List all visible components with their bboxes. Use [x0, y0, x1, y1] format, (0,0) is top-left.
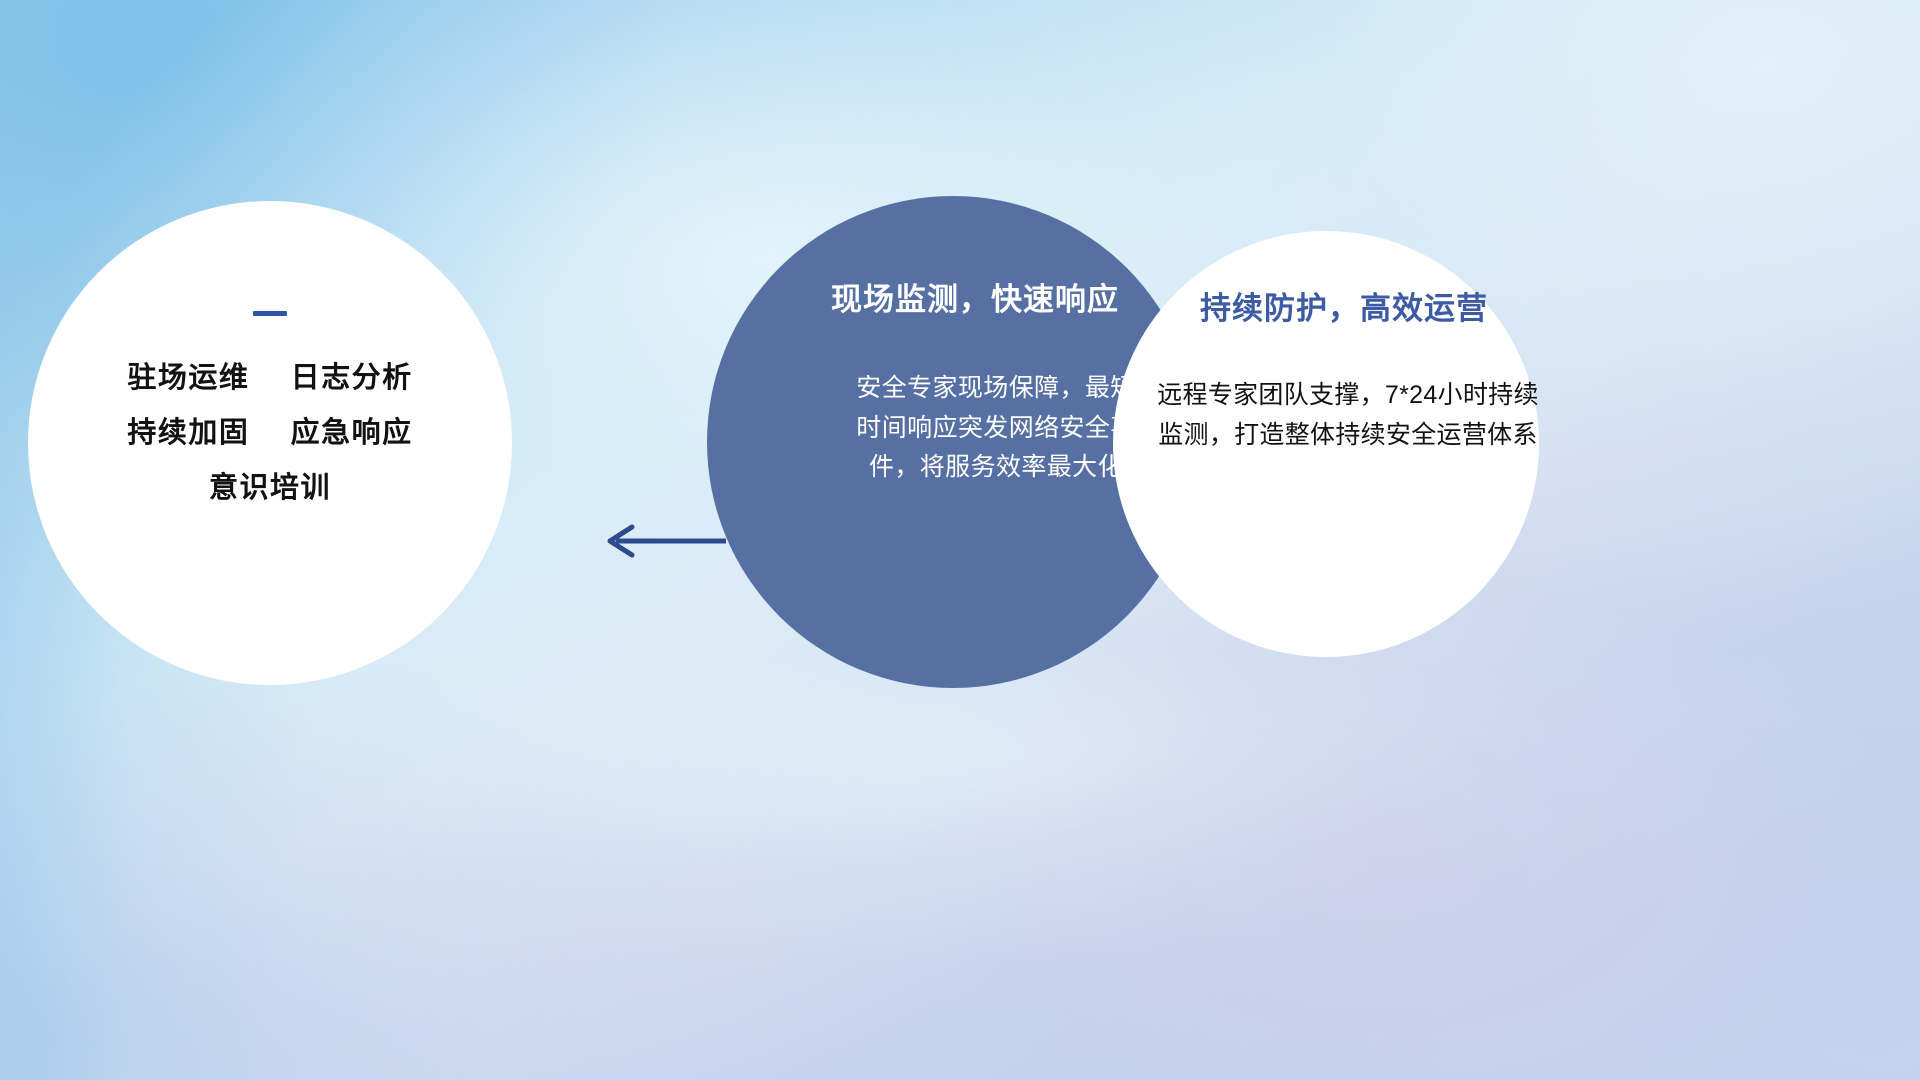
slide-canvas: 驻场运维 日志分析 持续加固 应急响应 意识培训 现场监测，快速响应 安全专家现…	[0, 0, 1920, 1080]
capabilities-circle: 驻场运维 日志分析 持续加固 应急响应 意识培训	[28, 201, 512, 685]
list-item: 驻场运维 日志分析	[127, 364, 412, 393]
continuous-protection-body: 远程专家团队支撑，7*24小时持续监测，打造整体持续安全运营体系	[1148, 376, 1548, 455]
keyword-rizhifenxi: 日志分析	[291, 362, 413, 394]
keyword-zhuchangyunwei: 驻场运维	[127, 362, 249, 394]
onsite-monitoring-body: 安全专家现场保障，最短时间响应突发网络安全事件，将服务效率最大化	[846, 369, 1146, 488]
continuous-protection-circle: 持续防护，高效运营 远程专家团队支撑，7*24小时持续监测，打造整体持续安全运营…	[1113, 231, 1539, 657]
capabilities-keyword-list: 驻场运维 日志分析 持续加固 应急响应 意识培训	[127, 364, 412, 503]
keyword-yishipeixun: 意识培训	[209, 472, 331, 504]
arrow-left-icon	[596, 516, 726, 566]
keyword-yingjixiangying: 应急响应	[291, 417, 413, 449]
list-item: 意识培训	[209, 474, 331, 503]
list-item: 持续加固 应急响应	[127, 419, 412, 448]
onsite-monitoring-title: 现场监测，快速响应	[831, 284, 1119, 315]
keyword-chixujiagu: 持续加固	[127, 417, 249, 449]
divider-dash	[253, 311, 287, 316]
continuous-protection-title: 持续防护，高效运营	[1200, 293, 1488, 324]
capabilities-content: 驻场运维 日志分析 持续加固 应急响应 意识培训	[28, 201, 512, 685]
continuous-protection-content: 持续防护，高效运营 远程专家团队支撑，7*24小时持续监测，打造整体持续安全运营…	[1113, 231, 1539, 657]
